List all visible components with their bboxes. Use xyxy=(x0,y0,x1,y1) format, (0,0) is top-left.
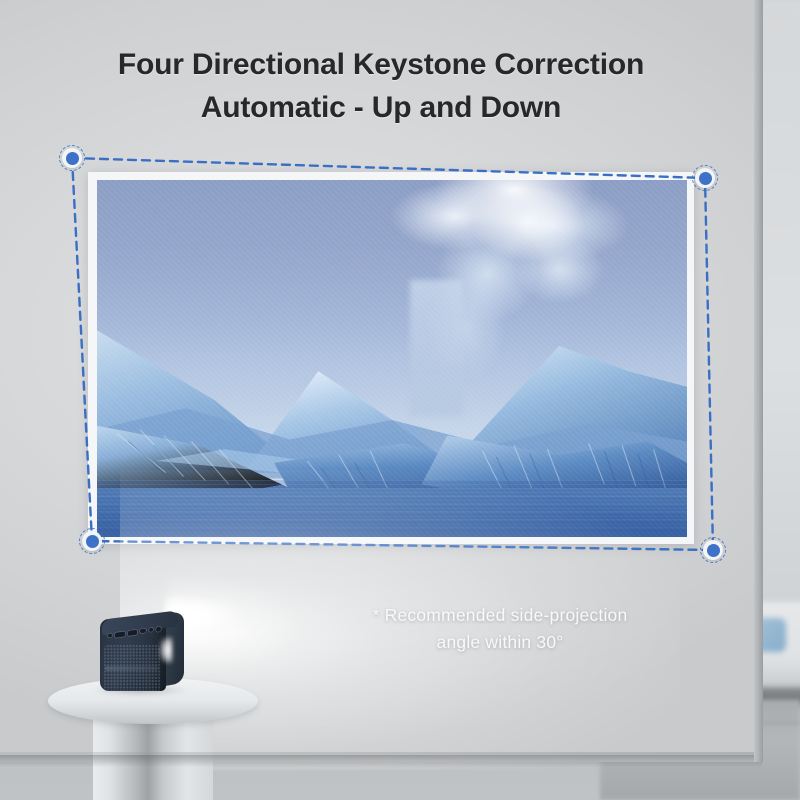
power-port-icon xyxy=(108,633,112,638)
recommendation-note: * Recommended side-projection angle with… xyxy=(300,602,700,655)
indicator-light-icon xyxy=(156,626,161,632)
hdmi-port-icon xyxy=(115,631,125,637)
projected-image xyxy=(97,180,687,537)
keystone-handle-bottom-right[interactable] xyxy=(700,537,726,563)
image-grain-overlay xyxy=(97,180,687,537)
handle-dashed-ring-icon xyxy=(692,165,718,191)
wall-right-edge xyxy=(754,0,763,762)
handle-dot-icon xyxy=(66,152,79,165)
projector-lens xyxy=(160,637,172,663)
portable-projector[interactable] xyxy=(100,613,184,691)
projector-brand-band xyxy=(105,666,159,671)
handle-ring-icon xyxy=(703,540,723,560)
handle-dashed-ring-icon xyxy=(700,537,726,563)
ir-sensor-icon xyxy=(149,627,153,632)
page-title: Four Directional Keystone Correction Aut… xyxy=(0,44,762,129)
aux-port-icon xyxy=(140,628,146,633)
keystone-handle-top-right[interactable] xyxy=(692,165,718,191)
handle-ring-icon xyxy=(695,168,715,188)
handle-dashed-ring-icon xyxy=(59,145,85,171)
usb-port-icon xyxy=(128,630,137,636)
keystone-handle-top-left[interactable] xyxy=(59,145,85,171)
projected-image-frame xyxy=(88,172,694,544)
projection-wall: Four Directional Keystone Correction Aut… xyxy=(0,0,762,762)
handle-dot-icon xyxy=(699,172,712,185)
projector-keystone-scene: Four Directional Keystone Correction Aut… xyxy=(0,0,800,800)
handle-dot-icon xyxy=(707,544,720,557)
wall-bottom-shadow xyxy=(0,755,762,767)
handle-ring-icon xyxy=(62,148,82,168)
